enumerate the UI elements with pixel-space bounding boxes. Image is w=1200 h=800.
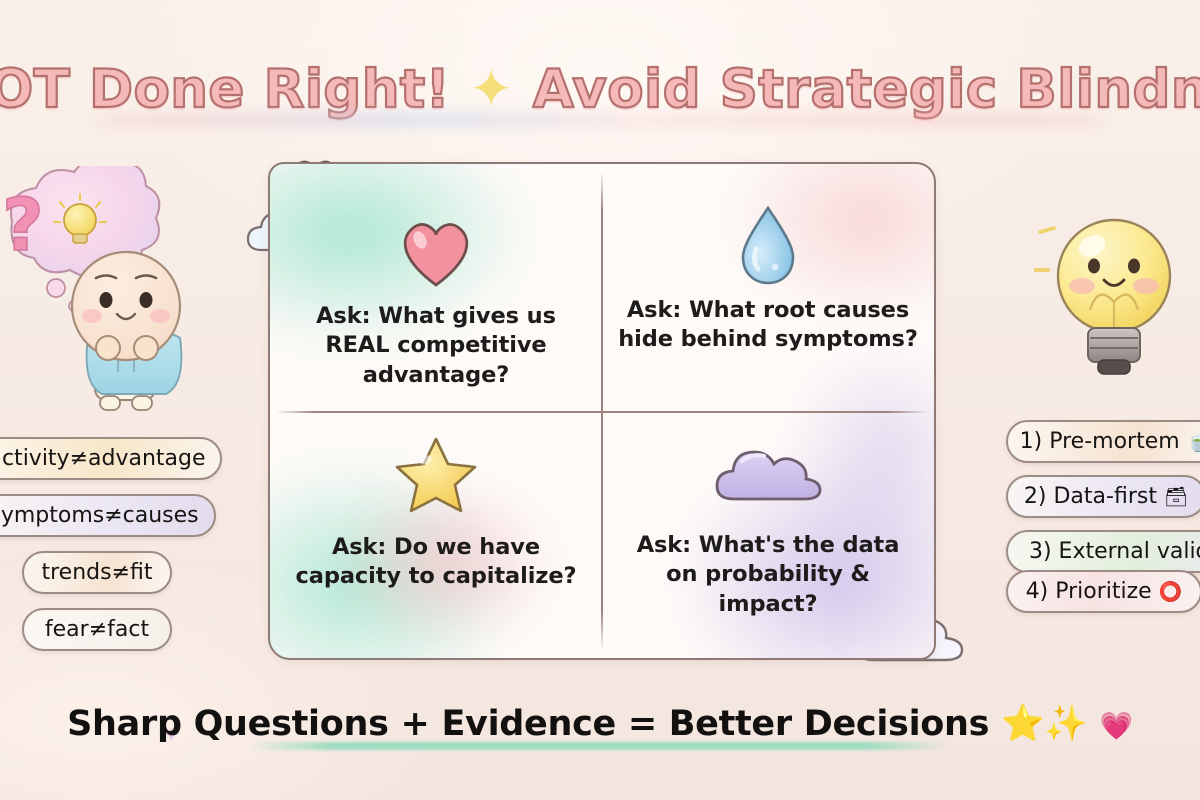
question-mark-icon: ? [2,183,44,267]
lightbulb-mascot [1034,196,1194,396]
quadrant-weaknesses[interactable]: Ask: What root causes hide behind sympto… [602,164,934,411]
title-underline [95,112,1105,128]
mascot-head [72,252,180,360]
pill-fear-fact[interactable]: fear≠fact [22,608,172,651]
heart-icon [394,212,478,290]
cloud-icon [712,431,824,515]
pill-symptoms-causes[interactable]: symptoms≠causes [0,494,216,537]
heart-icon-small: 💗 [1100,711,1133,742]
pill-label: 3) External valida [1029,539,1200,564]
quadrant-text: Ask: What's the data on probability & im… [618,531,918,619]
water-droplet-icon [737,206,799,284]
thought-lightbulb-icon [54,194,106,243]
quadrant-strengths[interactable]: Ask: What gives us REAL competitive adva… [270,164,602,411]
pill-trends-fit[interactable]: trends≠fit [22,551,172,594]
quadrant-opportunities[interactable]: Ask: Do we have capacity to capitalize? [270,411,602,658]
red-circle-icon: ⭕ [1159,580,1183,603]
pill-label: 4) Prioritize [1026,579,1152,604]
pill-label: trends≠fit [41,560,152,585]
bulb-screw-base [1088,328,1140,374]
pill-label: symptoms≠causes [0,503,199,528]
mascot-hand-left [96,336,120,360]
pill-external-validation[interactable]: 3) External valida [1006,530,1200,573]
pill-label: activity≠advantage [0,446,206,471]
bulb-shine-lines [1034,228,1054,270]
pill-label: 2) Data-first [1024,484,1157,509]
sparkle-icon: ✦ [469,59,514,120]
pill-pre-mortem[interactable]: 1) Pre-mortem 🍵 [1006,420,1200,463]
caption-text: Sharp Questions + Evidence = Better Deci… [67,704,989,744]
quadrant-text: Ask: What root causes hide behind sympto… [618,296,918,355]
quadrant-text: Ask: Do we have capacity to capitalize? [286,533,586,592]
mascot-group: ? [0,166,228,426]
quadrant-threats[interactable]: Ask: What's the data on probability & im… [602,411,934,658]
star-sparkle-icon: ⭐✨ [1001,704,1088,744]
pill-label: fear≠fact [45,617,149,642]
svg-text:?: ? [2,183,44,267]
pill-prioritize[interactable]: 4) Prioritize ⭕ [1006,570,1200,613]
pill-activity-advantage[interactable]: activity≠advantage [0,437,222,480]
card-box-icon: 🗃 [1164,485,1188,508]
caption-underline [250,742,950,750]
title-part-2: Avoid Strategic Blindness [533,59,1200,120]
thought-bubble-shape [11,166,159,312]
pill-data-first[interactable]: 2) Data-first 🗃 [1006,475,1200,518]
star-icon [393,433,479,517]
quadrant-text: Ask: What gives us REAL competitive adva… [286,302,586,390]
pill-label: 1) Pre-mortem [1020,429,1180,454]
title-part-1: SWOT Done Right! [0,59,450,120]
swot-question-card: Ask: What gives us REAL competitive adva… [268,162,936,660]
mascot-hand-right [134,336,158,360]
tea-cup-icon: 🍵 [1187,430,1200,453]
mascot-body [87,329,182,410]
